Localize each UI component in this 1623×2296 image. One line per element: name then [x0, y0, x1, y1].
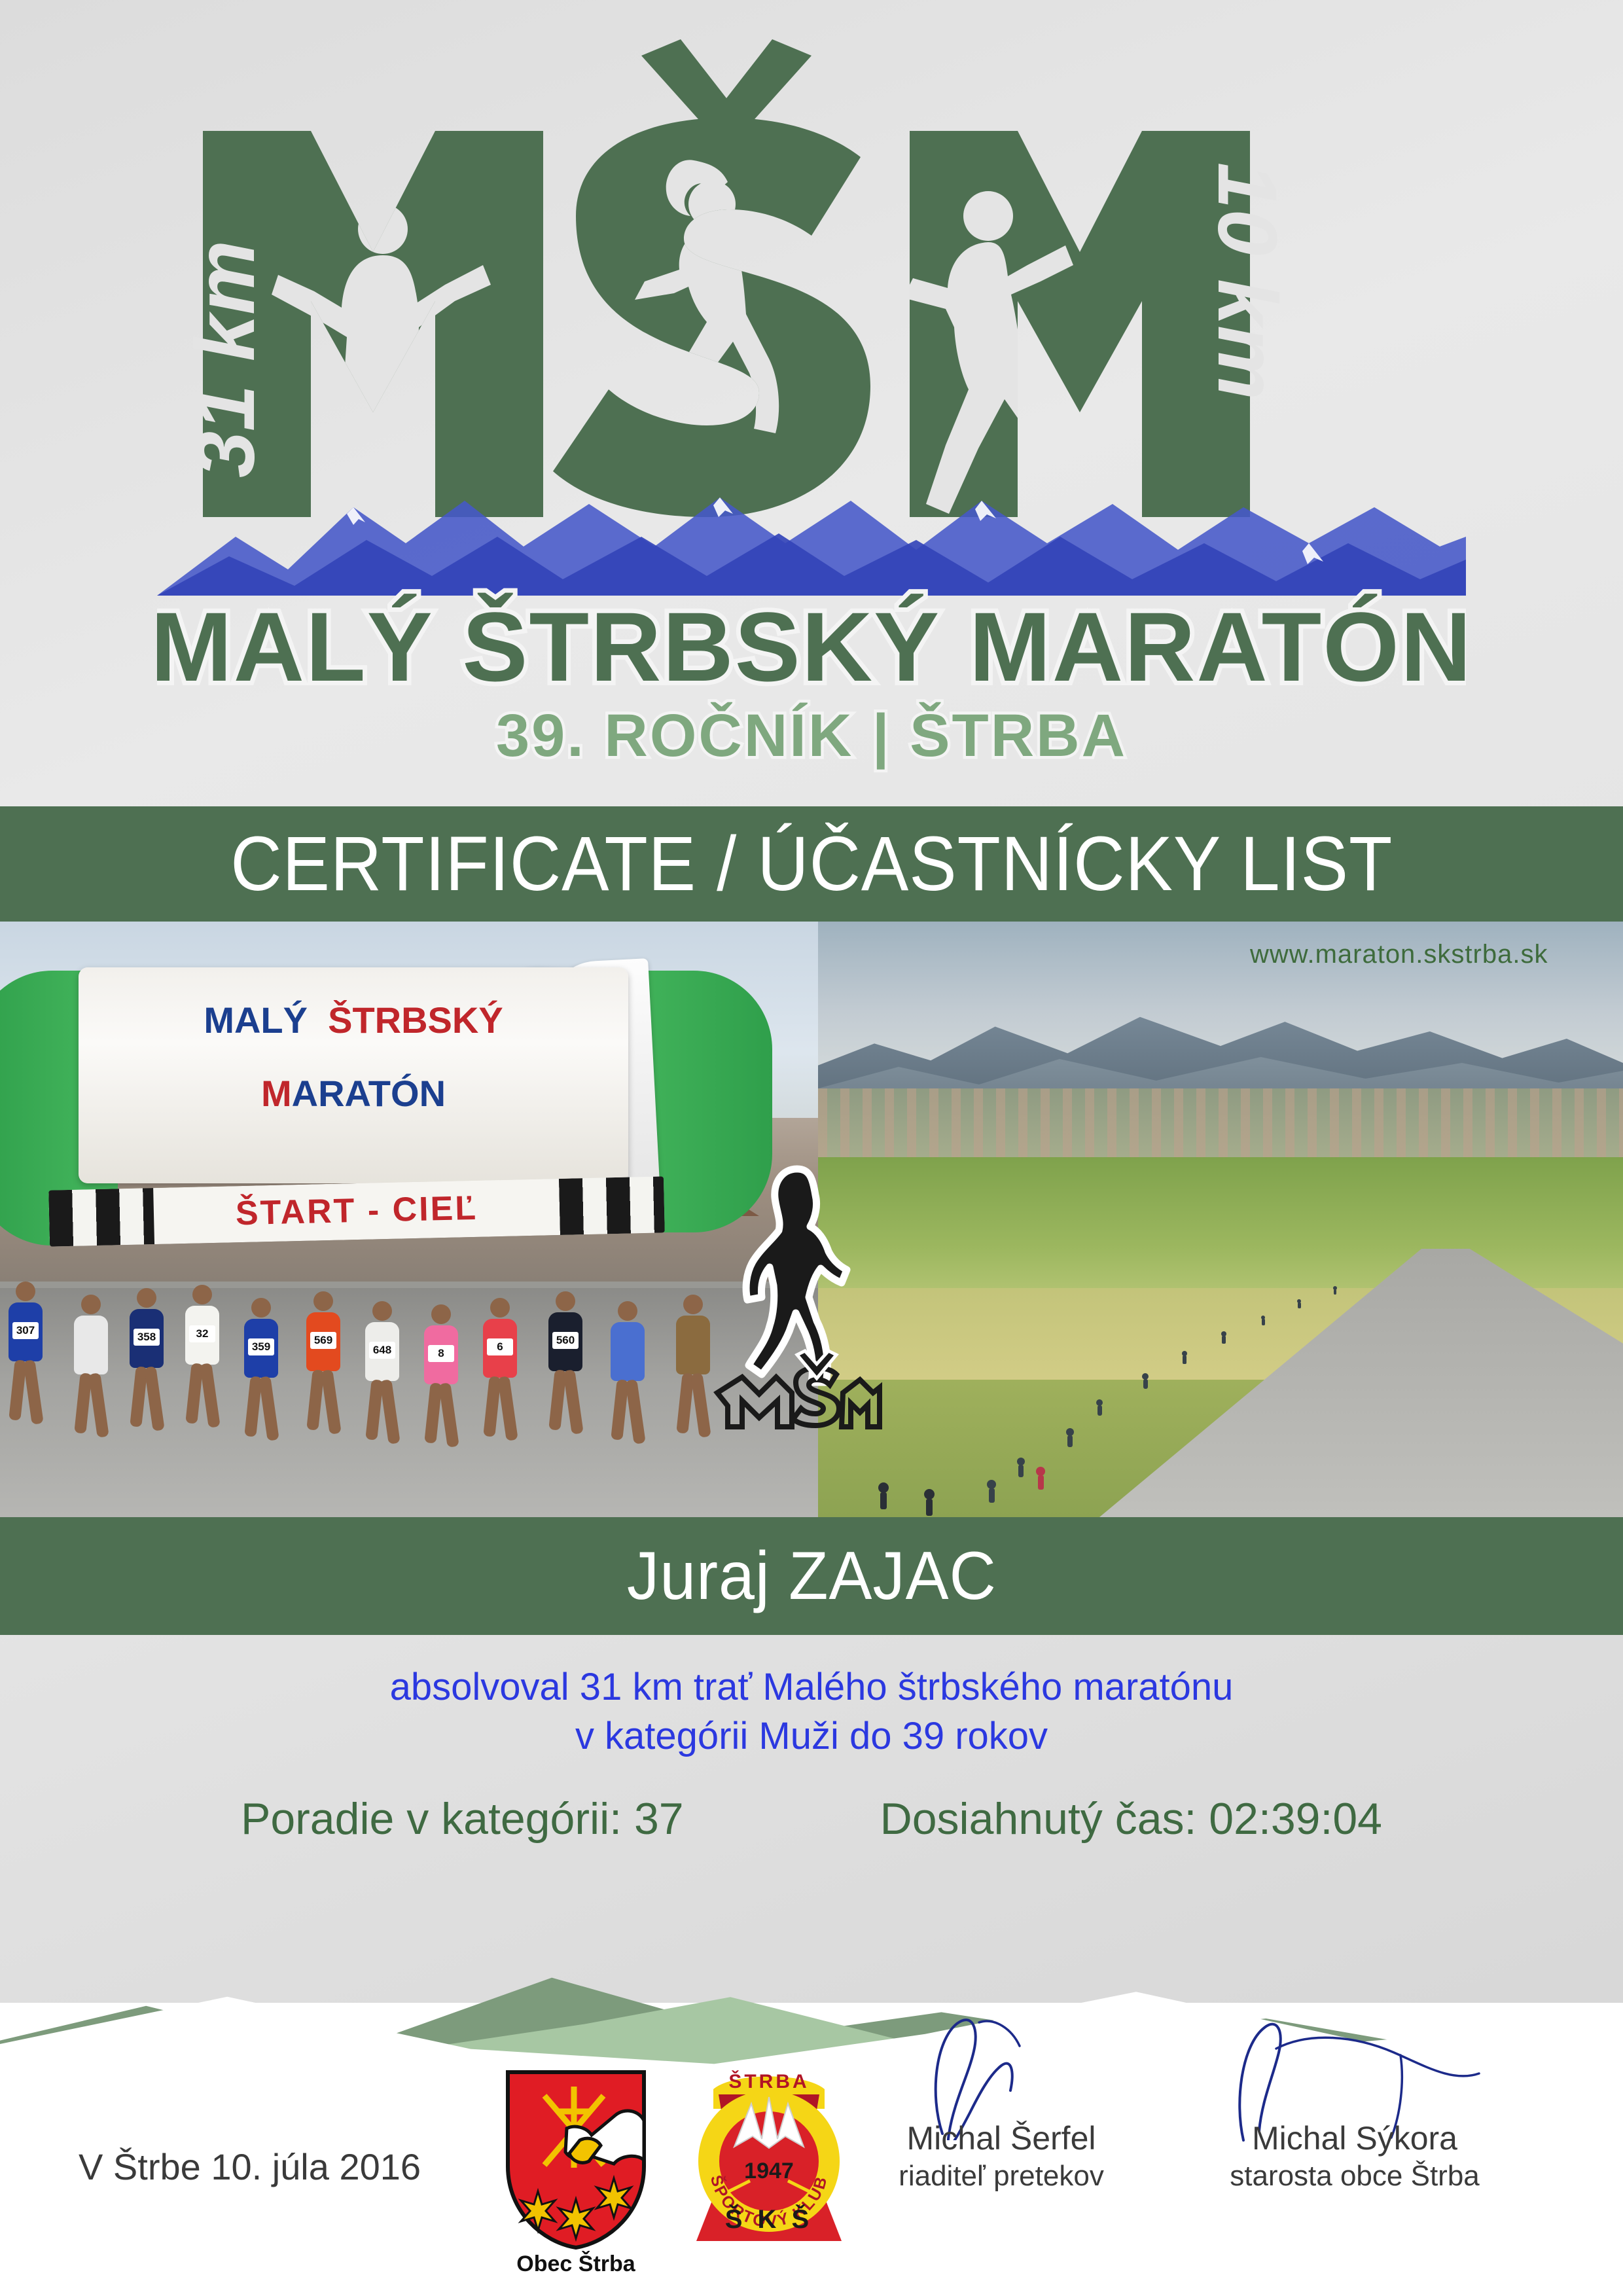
arch-banner-strbsky: ŠTRBSKÝ — [328, 999, 503, 1041]
sks-club-emblem-icon: ŠTRBA ŠPORTOVÝ KLUB 1947 Š K Š — [694, 2063, 844, 2253]
runner — [609, 1301, 647, 1458]
runner-bib: 32 — [189, 1325, 215, 1342]
mayor-name: Michal Sýkora — [1211, 2119, 1499, 2157]
certificate-banner-label: CERTIFICATE / ÚČASTNÍCKY LIST — [230, 819, 1393, 908]
logo-letter-s — [553, 118, 870, 517]
runner-leg — [88, 1372, 109, 1438]
runner-leg — [200, 1363, 220, 1428]
arch-banner-araton: ARATÓN — [292, 1073, 446, 1114]
logo-letter-m-right — [903, 131, 1250, 517]
runner: 560 — [546, 1291, 584, 1448]
runner-torso — [74, 1316, 108, 1374]
distant-runners — [818, 1236, 1623, 1517]
issue-date: V Štrbe 10. júla 2016 — [79, 2145, 421, 2188]
runner-head — [372, 1301, 392, 1321]
photo-strip: MALÝ ŠTRBSKÝ MARATÓN ŠTART - CIEĽ 307 — [0, 922, 1623, 1517]
mayor-role: starosta obce Štrba — [1211, 2160, 1499, 2193]
certificate-banner: CERTIFICATE / ÚČASTNÍCKY LIST — [0, 806, 1623, 922]
director-name: Michal Šerfel — [857, 2119, 1145, 2157]
arch-banner-maly: MALÝ — [204, 999, 308, 1041]
runner: 307 — [7, 1282, 45, 1439]
runner — [674, 1295, 712, 1452]
runner-head — [683, 1295, 703, 1314]
logo-distance-right-text: 10 km — [1200, 162, 1294, 400]
website-url[interactable]: www.maraton.skstrba.sk — [1250, 940, 1616, 969]
signature-block-director: Michal Šerfel riaditeľ pretekov — [857, 2119, 1145, 2193]
category-rank: Poradie v kategórii: 37 — [241, 1793, 684, 1844]
landscape-village — [818, 1088, 1623, 1160]
runner: 358 — [128, 1288, 166, 1445]
runner-head — [81, 1295, 101, 1314]
crest-label: Obec Štrba — [497, 2251, 654, 2277]
runner-bib: 569 — [310, 1332, 336, 1349]
logo-graphic: 31 km — [157, 20, 1466, 798]
runner-bib: 307 — [12, 1322, 39, 1339]
runner-head — [192, 1285, 212, 1304]
runner-crowd: 307 358 — [0, 1252, 818, 1517]
runner-torso — [611, 1322, 645, 1381]
runner-leg — [321, 1369, 341, 1435]
logo-subtitle: 39. ROČNÍK | ŠTRBA — [496, 702, 1127, 770]
runner: 32 — [183, 1285, 221, 1442]
runner-head — [251, 1298, 271, 1318]
arch-banner: MALÝ ŠTRBSKÝ MARATÓN — [79, 967, 628, 1183]
logo-mountains — [157, 497, 1466, 596]
achievement-description: absolvoval 31 km trať Malého štrbského m… — [0, 1662, 1623, 1761]
photo-start-line: MALÝ ŠTRBSKÝ MARATÓN ŠTART - CIEĽ 307 — [0, 922, 818, 1517]
signature-block-mayor: Michal Sýkora starosta obce Štrba — [1211, 2119, 1499, 2193]
runner-head — [556, 1291, 575, 1311]
runner-leg — [563, 1369, 583, 1435]
arch-banner-m: M — [261, 1073, 292, 1114]
logo-distance-left-text: 31 km — [179, 240, 272, 478]
runner-leg — [144, 1366, 164, 1431]
arch-banner-line1: MALÝ ŠTRBSKÝ — [79, 999, 628, 1041]
finish-time: Dosiahnutý čas: 02:39:04 — [880, 1793, 1382, 1844]
runner: 359 — [242, 1298, 280, 1455]
runner-leg — [690, 1372, 711, 1438]
obec-strba-crest-icon — [504, 2068, 648, 2251]
photo-landscape: www.maraton.skstrba.sk — [818, 922, 1623, 1517]
achievement-line-2: v kategórii Muži do 39 rokov — [0, 1712, 1623, 1761]
logo-right-distance-group: 10 km — [1200, 162, 1294, 400]
results-row: Poradie v kategórii: 37 Dosiahnutý čas: … — [0, 1793, 1623, 1844]
club-top-text: ŠTRBA — [728, 2070, 809, 2092]
runner-head — [137, 1288, 156, 1308]
runner-head — [313, 1291, 333, 1311]
director-role: riaditeľ pretekov — [857, 2160, 1145, 2193]
achievement-line-1: absolvoval 31 km trať Malého štrbského m… — [390, 1666, 1234, 1708]
runner-bib: 648 — [369, 1342, 395, 1359]
runner-bib: 358 — [134, 1329, 160, 1346]
runner-head — [618, 1301, 637, 1321]
runner-leg — [380, 1379, 400, 1444]
runner: 8 — [422, 1304, 460, 1462]
runner-torso — [676, 1316, 710, 1374]
msm-runner-emblem — [713, 1157, 883, 1432]
runner-bib: 560 — [552, 1332, 579, 1349]
runner-head — [490, 1298, 510, 1318]
logo-title: MALÝ ŠTRBSKÝ MARATÓN — [157, 592, 1466, 702]
start-finish-label: ŠTART - CIEĽ — [48, 1184, 664, 1237]
runner-leg — [438, 1382, 459, 1448]
arch-banner-line2: MARATÓN — [79, 1072, 628, 1115]
runner-head — [16, 1282, 35, 1301]
runner-leg — [497, 1376, 518, 1441]
runner-head — [431, 1304, 451, 1324]
runner: 648 — [363, 1301, 401, 1458]
logo-distance-left: 31 km — [345, 687, 433, 798]
certificate-page: 31 km — [0, 0, 1623, 2296]
runner: 6 — [481, 1298, 519, 1455]
msm-runner-figure — [746, 1169, 847, 1382]
participant-name-banner: Juraj ZAJAC — [0, 1517, 1623, 1635]
runner — [72, 1295, 110, 1452]
logo-left-distance-group: 31 km — [179, 240, 272, 478]
certificate-footer: V Štrbe 10. júla 2016 Obec Štrba — [0, 2003, 1623, 2296]
runner: 569 — [304, 1291, 342, 1448]
msm-emblem-text — [717, 1351, 880, 1427]
club-abbr-text: Š K Š — [725, 2204, 813, 2234]
participant-name: Juraj ZAJAC — [627, 1537, 997, 1615]
runner-leg — [625, 1379, 645, 1444]
runner-bib: 8 — [428, 1345, 454, 1362]
runner-bib: 359 — [248, 1338, 274, 1355]
runner-leg — [259, 1376, 279, 1441]
runner-bib: 6 — [487, 1338, 513, 1355]
club-year-text: 1947 — [744, 2159, 794, 2183]
event-logo: 31 km — [0, 0, 1623, 798]
runner-leg — [23, 1359, 43, 1425]
